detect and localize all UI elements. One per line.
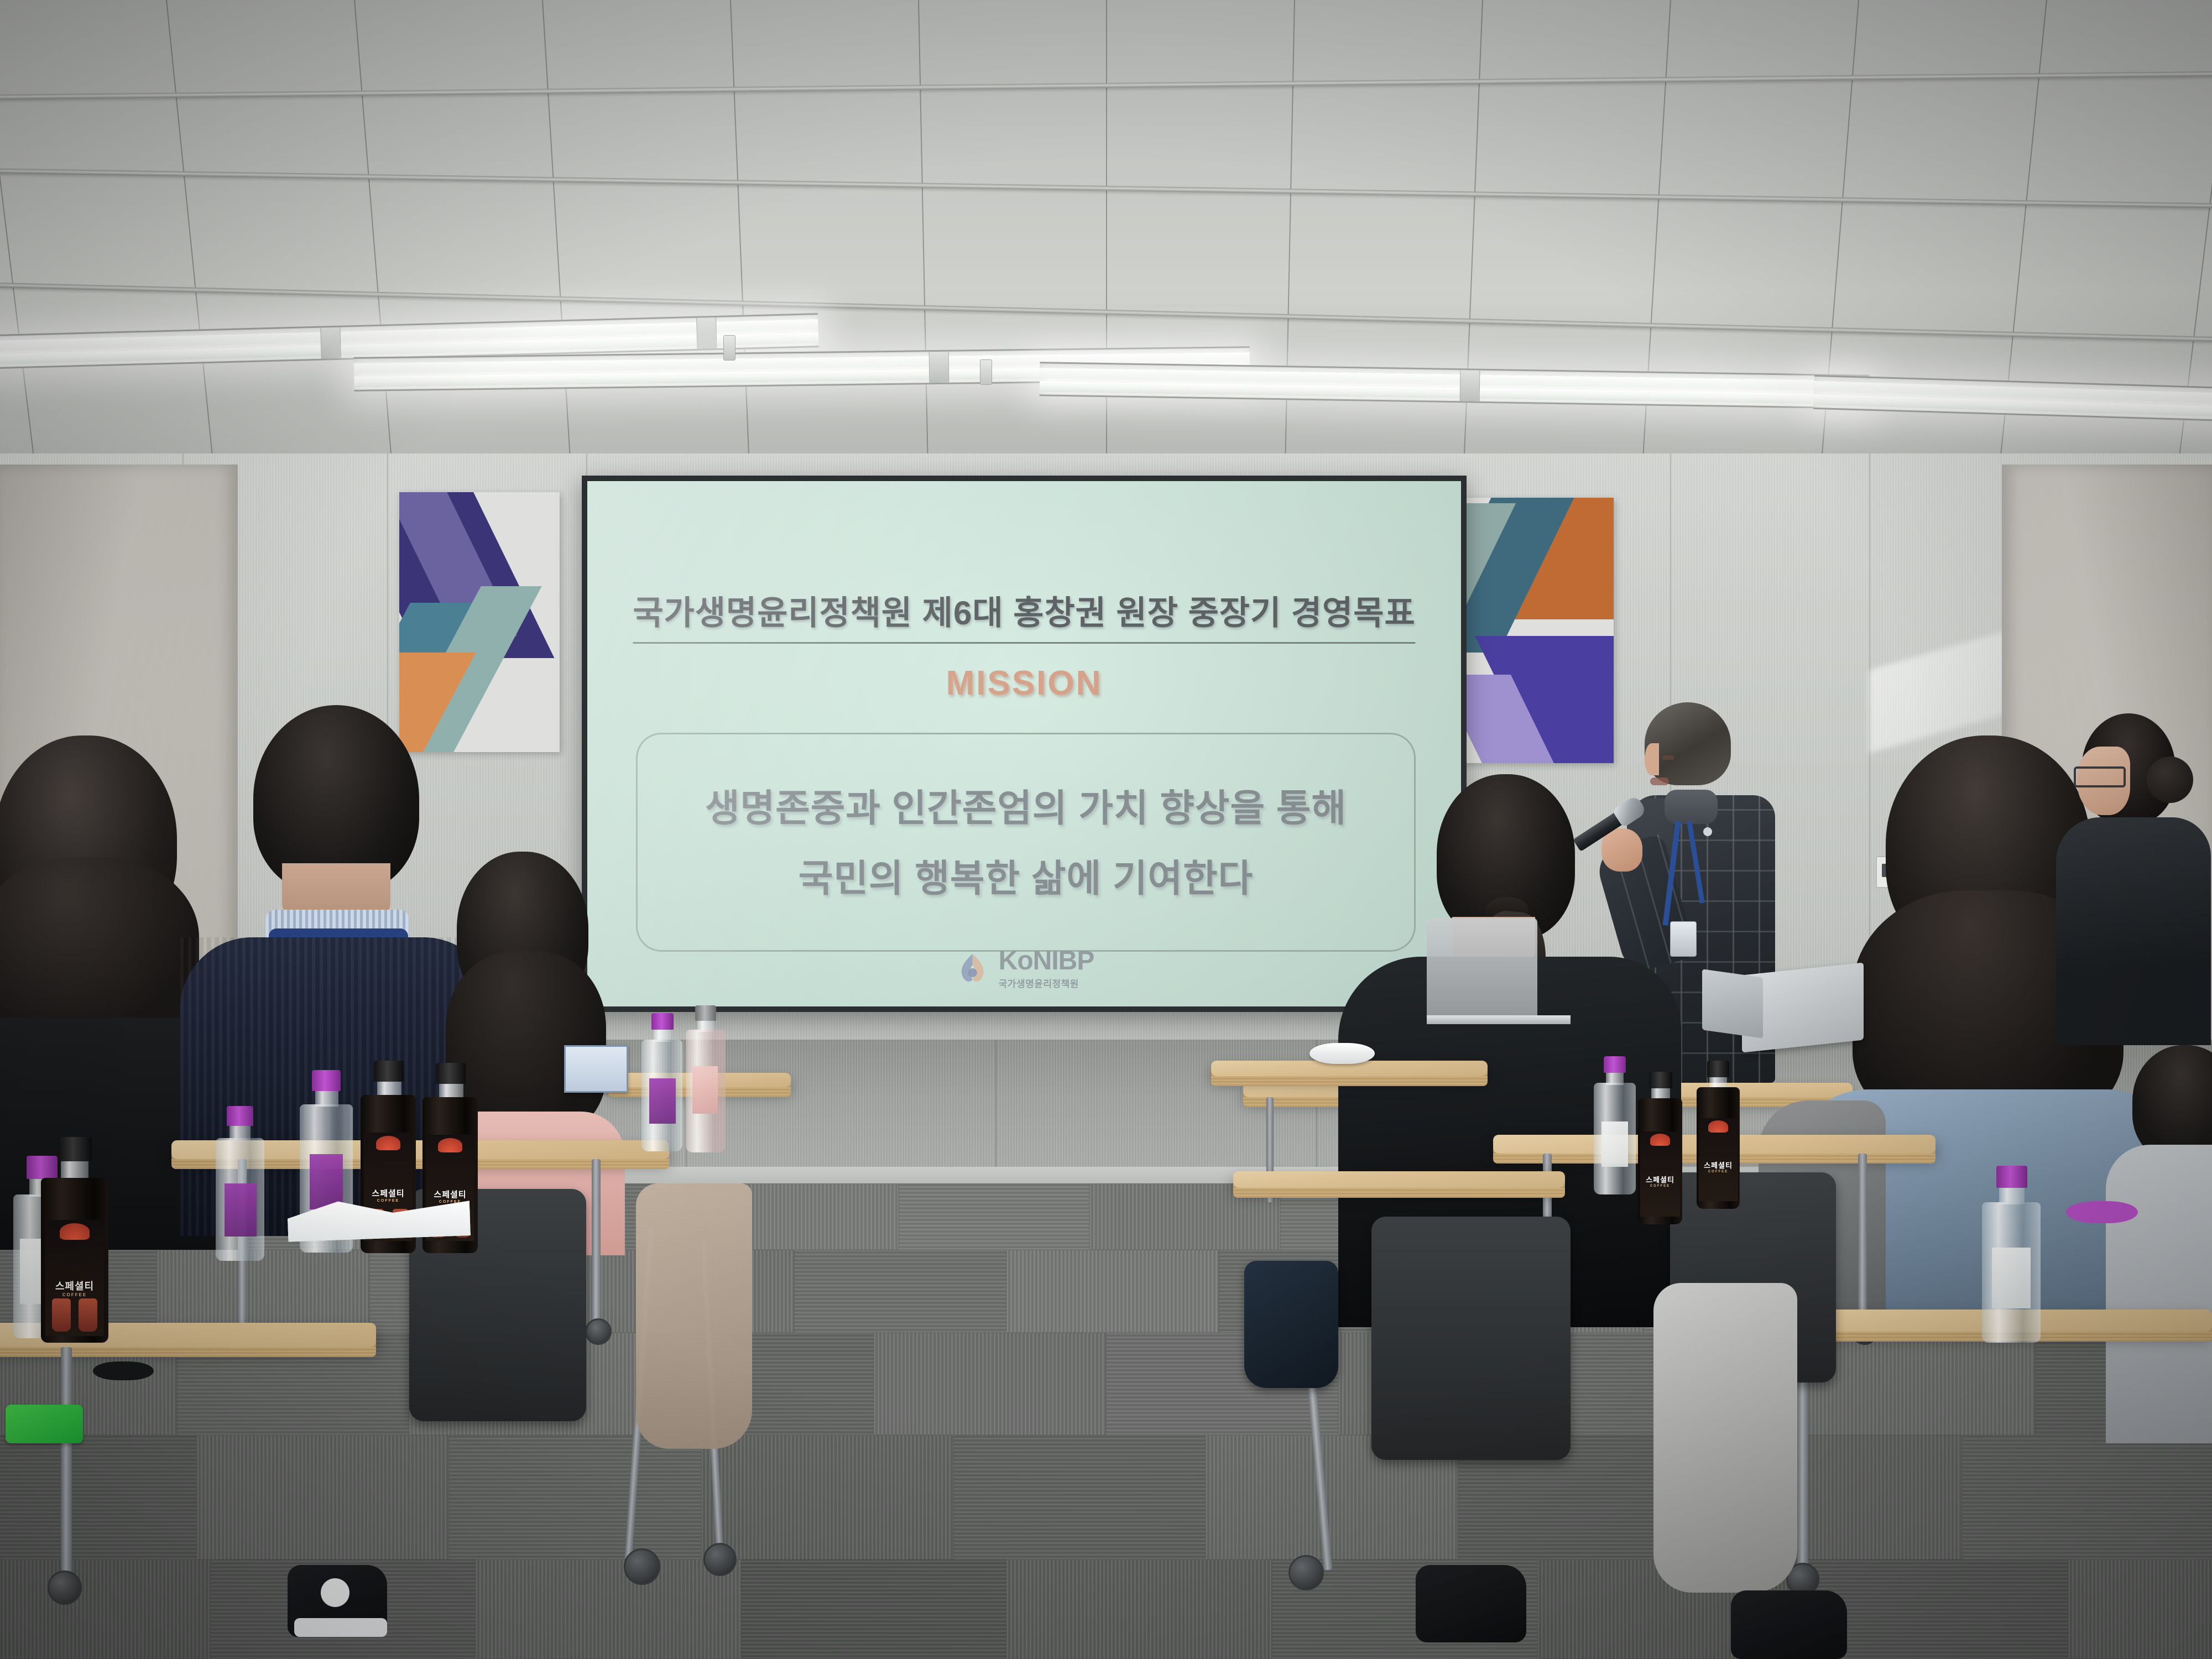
coffee-bottle[interactable]: 스페셜티 COFFEE <box>1695 1061 1741 1209</box>
desk <box>1233 1171 1565 1188</box>
water-bottle[interactable] <box>685 1005 727 1152</box>
coffee-bottle-sublabel: COFFEE <box>1708 1170 1728 1173</box>
ceiling-sprinkler-head <box>980 359 992 385</box>
coffee-bottle-sublabel: COFFEE <box>377 1199 399 1203</box>
bottle-label <box>225 1183 257 1237</box>
attendee-hair-fall <box>0 857 199 1040</box>
desk-leg <box>592 1159 601 1325</box>
attendee-top <box>2106 1145 2212 1443</box>
flame-icon <box>376 1136 400 1150</box>
chair-caster <box>624 1548 660 1585</box>
projection-screen: 국가생명윤리정책원 제6대 홍창권 원장 중장기 경영목표 MISSION 생명… <box>587 481 1461 1006</box>
chair[interactable] <box>1371 1217 1571 1460</box>
mission-line-1: 생명존중과 인간존엄의 가치 향상을 통해 <box>638 778 1414 832</box>
coffee-bottle-label: 스페셜티 <box>372 1190 404 1198</box>
coffee-bottle-sublabel: COFFEE <box>1650 1185 1670 1188</box>
flame-icon <box>1650 1134 1670 1146</box>
shoe-logo-icon <box>321 1578 349 1607</box>
desk-leg <box>61 1347 72 1579</box>
draped-coat <box>636 1183 752 1449</box>
slide-heading: MISSION <box>946 664 1103 703</box>
chevron-banner-right <box>1453 498 1614 763</box>
ceiling-sprinkler-head <box>723 335 735 361</box>
ceiling-tile-grid <box>0 0 2212 487</box>
coffee-bottle-label: 스페셜티 <box>1646 1176 1674 1183</box>
shoe-sole <box>294 1618 387 1637</box>
presenter-collar <box>1665 790 1718 824</box>
coffee-bottle-label: 스페셜티 <box>55 1281 94 1291</box>
flame-icon <box>60 1223 90 1240</box>
water-bottle[interactable] <box>215 1106 265 1261</box>
projection-screen-frame: 국가생명윤리정책원 제6대 홍창권 원장 중장기 경영목표 MISSION 생명… <box>582 476 1467 1012</box>
presenter-nose <box>1645 743 1659 775</box>
pot-illustration <box>79 1298 97 1332</box>
draped-coat <box>1653 1283 1797 1593</box>
konibp-logo-icon <box>954 951 991 987</box>
chair-caster <box>1288 1555 1324 1590</box>
chair-rail <box>1427 1015 1571 1024</box>
id-badge <box>1670 921 1697 957</box>
shoe <box>1416 1565 1526 1642</box>
presenter-eye <box>1662 755 1674 760</box>
name-card <box>564 1045 628 1093</box>
coffee-bottle-label: 스페셜티 <box>1704 1162 1733 1169</box>
logo-wordmark: KoNIBP <box>999 948 1094 974</box>
water-bottle[interactable] <box>640 1013 684 1151</box>
hair-bun <box>2147 757 2193 803</box>
attendee-hair <box>2132 1045 2212 1161</box>
pot-illustration <box>52 1298 71 1332</box>
snack-pack[interactable] <box>6 1405 83 1443</box>
chair-back <box>1427 918 1537 1018</box>
attendee-right-2 <box>2053 713 2212 1045</box>
chair-caster <box>703 1543 737 1576</box>
conference-room-photo: 국가생명윤리정책원 제6대 홍창권 원장 중장기 경영목표 MISSION 생명… <box>0 0 2212 1659</box>
coffee-bottle[interactable]: 스페셜티 COFFEE <box>40 1137 109 1343</box>
lapel-pin <box>1703 827 1712 836</box>
water-bottle[interactable] <box>1981 1166 2042 1343</box>
bottle-label <box>692 1066 718 1114</box>
bottle-label <box>310 1154 343 1209</box>
attendee-top <box>2056 817 2211 1045</box>
bottle-cap <box>2066 1201 2138 1223</box>
water-bottle[interactable] <box>1593 1056 1637 1194</box>
desk-caster <box>48 1571 82 1605</box>
desk-object <box>93 1361 154 1380</box>
hanging-bag <box>1244 1261 1338 1388</box>
coffee-bottle-label: 스페셜티 <box>434 1191 466 1199</box>
slide-title: 국가생명윤리정책원 제6대 홍창권 원장 중장기 경영목표 <box>633 586 1415 644</box>
logo-subtitle: 국가생명윤리정책원 <box>999 976 1079 990</box>
desk-leg <box>1858 1154 1867 1325</box>
organization-logo: KoNIBP 국가생명윤리정책원 <box>954 948 1094 990</box>
mission-statement-box: 생명존중과 인간존엄의 가치 향상을 통해 국민의 행복한 삶에 기여한다 <box>636 733 1416 952</box>
bottle-label <box>1992 1248 2031 1308</box>
laptop[interactable] <box>1702 969 1763 1038</box>
coffee-bottle-sublabel: COFFEE <box>62 1292 87 1297</box>
bottle-label <box>649 1078 676 1124</box>
bottle-label <box>1601 1121 1628 1167</box>
attendee-far-right <box>2122 1045 2212 1443</box>
flame-icon <box>438 1138 462 1152</box>
desk-caster <box>585 1318 612 1345</box>
mission-line-2: 국민의 행복한 삶에 기여한다 <box>638 848 1414 902</box>
coffee-bottle[interactable]: 스페셜티 COFFEE <box>1637 1072 1683 1224</box>
computer-mouse[interactable] <box>1310 1043 1375 1064</box>
shoe <box>1731 1590 1847 1659</box>
eyeglasses-icon <box>2074 766 2126 787</box>
flame-icon <box>1708 1120 1728 1133</box>
